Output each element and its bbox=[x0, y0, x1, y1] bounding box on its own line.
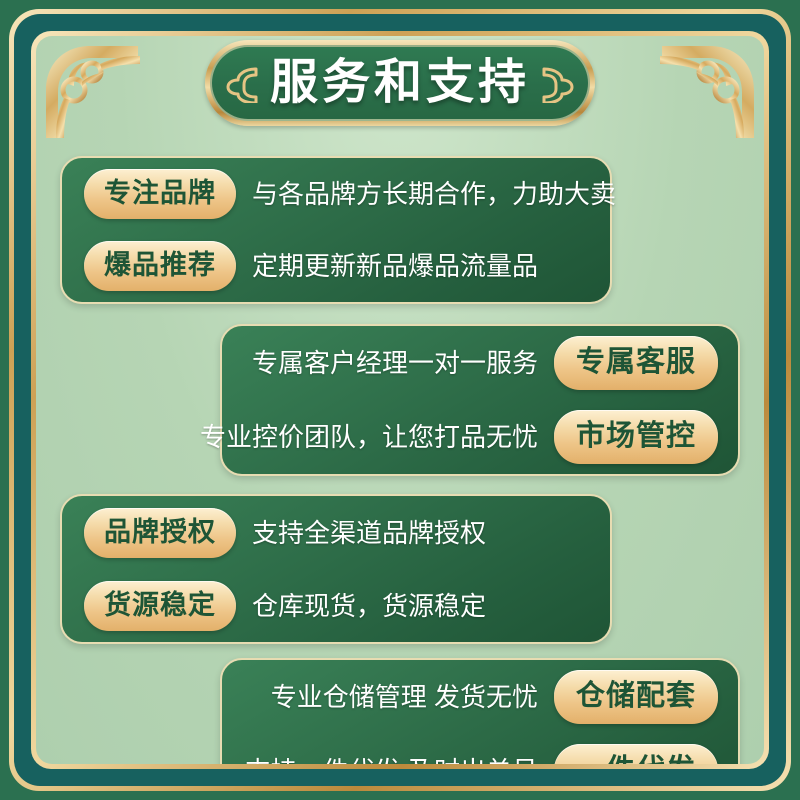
feature-description: 支持一件代发 及时出单号 bbox=[245, 758, 538, 764]
title-banner: 服务和支持 bbox=[205, 40, 595, 126]
feature-tag[interactable]: 专注品牌 bbox=[84, 169, 236, 219]
trefoil-ornament-icon bbox=[226, 63, 260, 103]
title-plate-inner: 服务和支持 bbox=[210, 45, 590, 121]
feature-tag[interactable]: 专属客服 bbox=[554, 336, 718, 390]
feature-description: 仓库现货，货源稳定 bbox=[252, 593, 486, 619]
feature-tag[interactable]: 货源稳定 bbox=[84, 581, 236, 631]
feature-description: 专业控价团队，让您打品无忧 bbox=[200, 424, 538, 450]
feature-card-list: 专注品牌 与各品牌方长期合作，力助大卖 爆品推荐 定期更新新品爆品流量品 专属客… bbox=[36, 120, 764, 764]
feature-tag[interactable]: 仓储配套 bbox=[554, 670, 718, 724]
feature-card: 专属客户经理一对一服务 专属客服 专业控价团队，让您打品无忧 市场管控 bbox=[220, 324, 740, 476]
feature-description: 专属客户经理一对一服务 bbox=[252, 350, 538, 376]
title-plate: 服务和支持 bbox=[205, 40, 595, 126]
feature-row: 专业控价团队，让您打品无忧 市场管控 bbox=[222, 400, 738, 474]
feature-row: 爆品推荐 定期更新新品爆品流量品 bbox=[62, 230, 610, 302]
feature-row: 专业仓储管理 发货无忧 仓储配套 bbox=[222, 660, 738, 734]
feature-description: 定期更新新品爆品流量品 bbox=[252, 253, 538, 279]
trefoil-ornament-icon bbox=[540, 63, 574, 103]
feature-tag[interactable]: 一件代发 bbox=[554, 744, 718, 764]
feature-card: 专注品牌 与各品牌方长期合作，力助大卖 爆品推荐 定期更新新品爆品流量品 bbox=[60, 156, 612, 304]
feature-tag[interactable]: 品牌授权 bbox=[84, 508, 236, 558]
feature-card: 专业仓储管理 发货无忧 仓储配套 支持一件代发 及时出单号 一件代发 bbox=[220, 658, 740, 764]
feature-row: 货源稳定 仓库现货，货源稳定 bbox=[62, 569, 610, 642]
feature-description: 专业仓储管理 发货无忧 bbox=[271, 684, 538, 710]
content-panel: 服务和支持 专注品牌 与各品牌方长期合作，力助大卖 爆品推荐 bbox=[36, 36, 764, 764]
poster-root: 服务和支持 专注品牌 与各品牌方长期合作，力助大卖 爆品推荐 bbox=[0, 0, 800, 800]
feature-row: 支持一件代发 及时出单号 一件代发 bbox=[222, 734, 738, 764]
feature-card: 品牌授权 支持全渠道品牌授权 货源稳定 仓库现货，货源稳定 bbox=[60, 494, 612, 644]
feature-description: 与各品牌方长期合作，力助大卖 bbox=[252, 181, 616, 207]
page-title: 服务和支持 bbox=[270, 59, 530, 107]
feature-tag[interactable]: 市场管控 bbox=[554, 410, 718, 464]
feature-tag[interactable]: 爆品推荐 bbox=[84, 241, 236, 291]
feature-row: 专注品牌 与各品牌方长期合作，力助大卖 bbox=[62, 158, 610, 230]
feature-row: 专属客户经理一对一服务 专属客服 bbox=[222, 326, 738, 400]
feature-row: 品牌授权 支持全渠道品牌授权 bbox=[62, 496, 610, 569]
feature-description: 支持全渠道品牌授权 bbox=[252, 520, 486, 546]
